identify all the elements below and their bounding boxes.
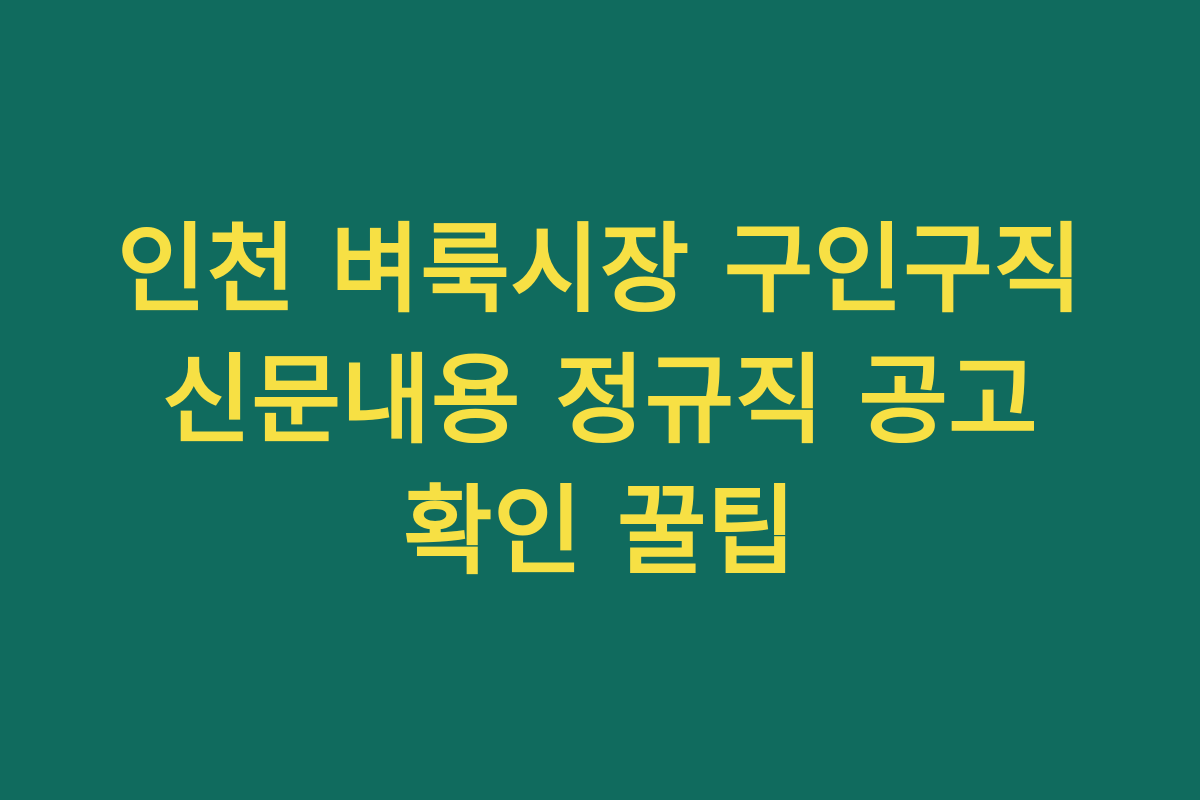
- title-block: 인천 벼룩시장 구인구직 신문내용 정규직 공고 확인 꿀팁: [0, 204, 1200, 597]
- banner-canvas: 인천 벼룩시장 구인구직 신문내용 정규직 공고 확인 꿀팁: [0, 0, 1200, 800]
- title-line-1: 인천 벼룩시장 구인구직: [40, 204, 1160, 335]
- title-line-2: 신문내용 정규직 공고: [40, 335, 1160, 466]
- title-line-3: 확인 꿀팁: [40, 466, 1160, 597]
